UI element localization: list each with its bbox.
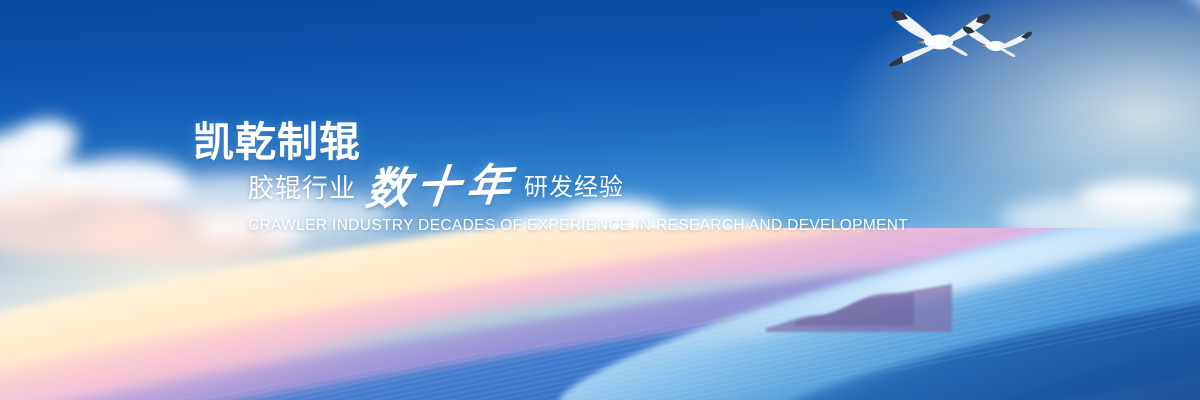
headline-block: 凯乾制辊 胶辊行业 数十年 研发经验 CRAWLER INDUSTRY DECA…: [193, 112, 893, 236]
hero-banner: 凯乾制辊 胶辊行业 数十年 研发经验 CRAWLER INDUSTRY DECA…: [0, 0, 1200, 400]
seagull-small-icon: [958, 22, 1034, 64]
headline-line-english: CRAWLER INDUSTRY DECADES OF EXPERIENCE I…: [248, 216, 893, 236]
cloud-sea-layers: [0, 228, 1200, 400]
industry-label: 胶辊行业: [248, 173, 356, 203]
rnd-experience-label: 研发经验: [524, 174, 624, 202]
english-subtitle: CRAWLER INDUSTRY DECADES OF EXPERIENCE I…: [248, 217, 908, 234]
headline-line-brand: 凯乾制辊: [193, 112, 893, 164]
island-silhouette: [764, 282, 954, 334]
headline-line-slogan: 胶辊行业 数十年 研发经验: [248, 166, 893, 210]
calligraphy-decades: 数十年: [363, 162, 518, 213]
brand-name: 凯乾制辊: [193, 120, 361, 164]
seagull-group: [880, 0, 1040, 80]
